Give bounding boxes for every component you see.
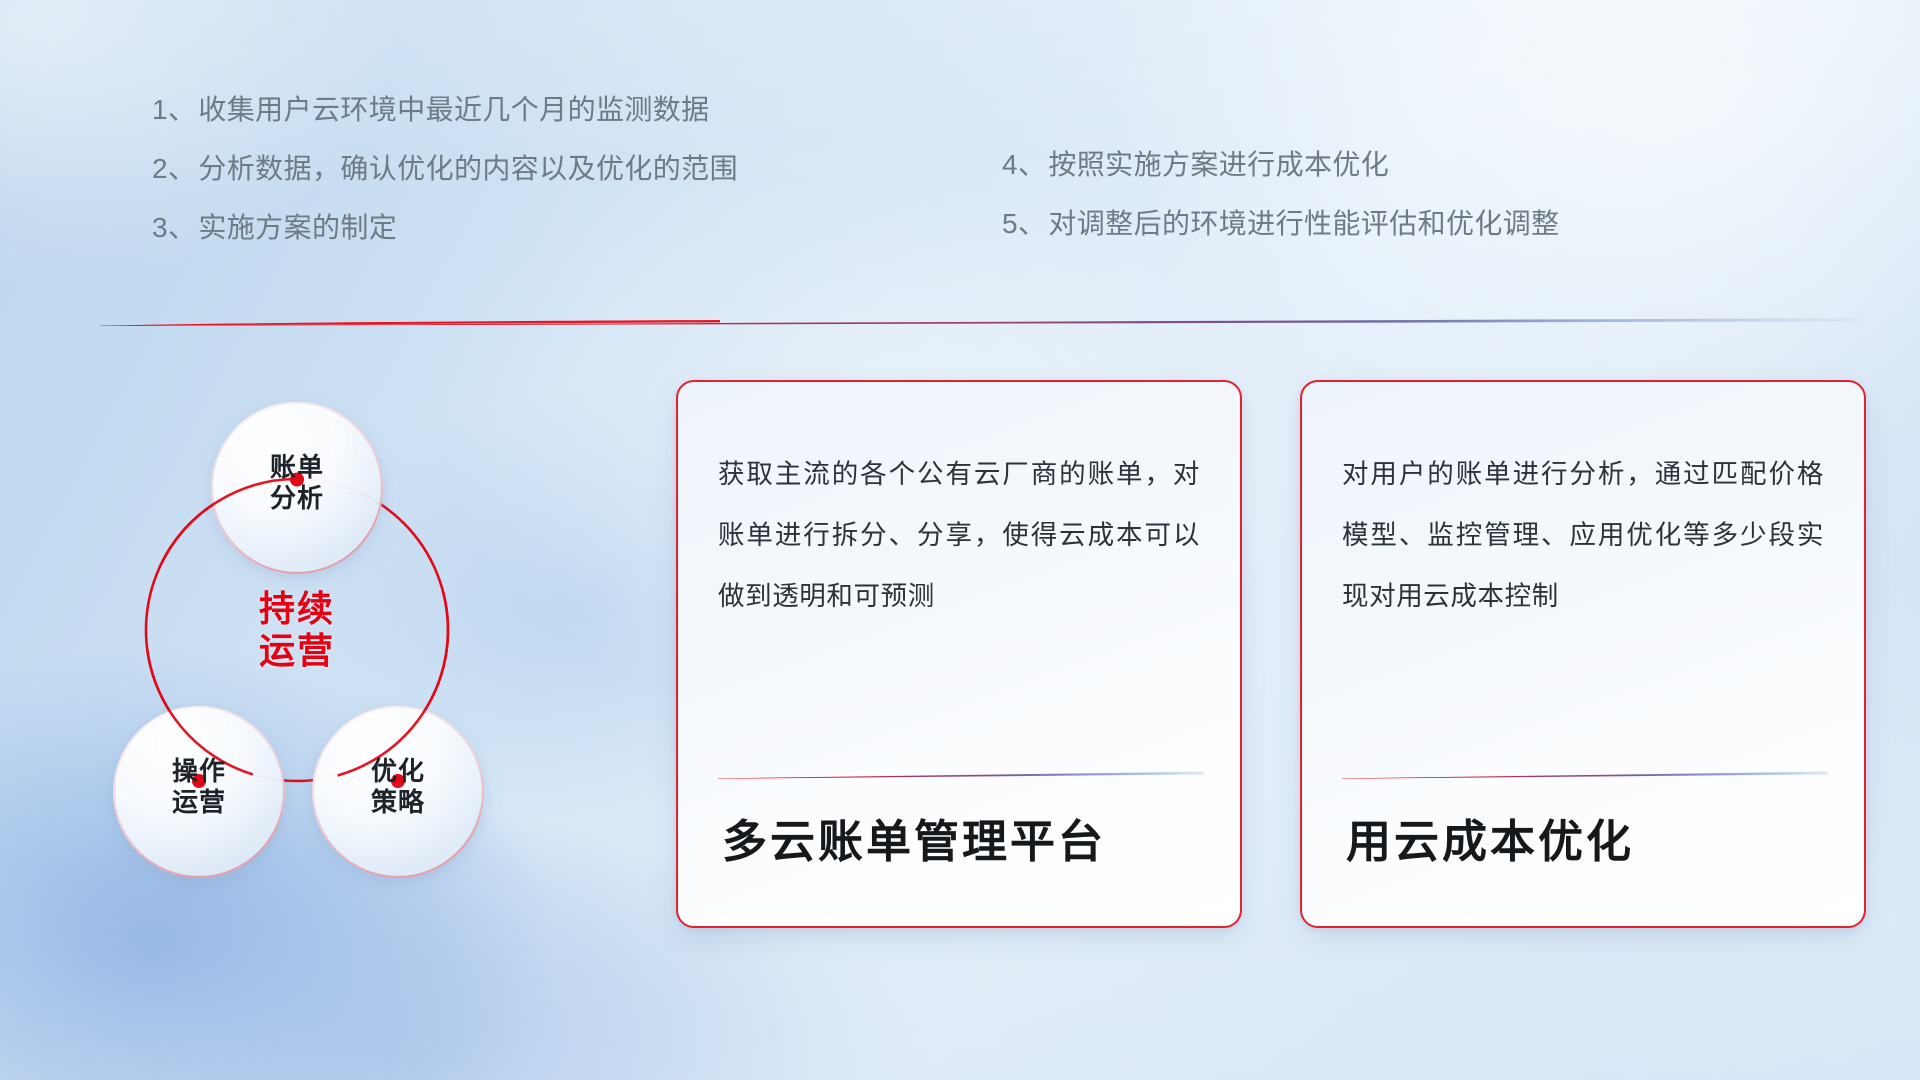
steps-list: 1、 收集用户云环境中最近几个月的监测数据 2、 分析数据，确认优化的内容以及优… (0, 0, 1920, 290)
step-text: 实施方案的制定 (198, 214, 397, 242)
step-number: 5、 (1002, 210, 1046, 238)
venn-diagram: 账单 分析 操作 运营 优化 策略 持续 运营 (95, 340, 655, 960)
feature-cards: 获取主流的各个公有云厂商的账单，对账单进行拆分、分享，使得云成本可以做到透明和可… (676, 380, 1876, 940)
venn-label-line: 优化 (338, 756, 458, 787)
venn-center-label-line: 运营 (222, 630, 372, 672)
venn-label-line: 操作 (139, 756, 259, 787)
venn-label-line: 分析 (237, 483, 357, 514)
step-item-2: 2、 分析数据，确认优化的内容以及优化的范围 (152, 155, 738, 183)
card-multi-cloud-billing-platform[interactable]: 获取主流的各个公有云厂商的账单，对账单进行拆分、分享，使得云成本可以做到透明和可… (676, 380, 1242, 928)
step-text: 分析数据，确认优化的内容以及优化的范围 (198, 155, 738, 183)
card-body-text: 获取主流的各个公有云厂商的账单，对账单进行拆分、分享，使得云成本可以做到透明和可… (718, 444, 1200, 627)
card-title: 用云成本优化 (1342, 775, 1824, 926)
venn-label-operations: 操作 运营 (139, 756, 259, 817)
step-number: 2、 (152, 155, 196, 183)
section-divider (100, 313, 1860, 324)
step-text: 按照实施方案进行成本优化 (1048, 151, 1389, 179)
step-item-4: 4、 按照实施方案进行成本优化 (1002, 151, 1560, 179)
venn-label-line: 账单 (237, 452, 357, 483)
steps-right-column: 4、 按照实施方案进行成本优化 5、 对调整后的环境进行性能评估和优化调整 (1002, 151, 1560, 269)
card-divider (1342, 766, 1828, 775)
card-divider (718, 766, 1204, 775)
venn-label-line: 策略 (338, 787, 458, 818)
card-body-text: 对用户的账单进行分析，通过匹配价格模型、监控管理、应用优化等多少段实现对用云成本… (1342, 444, 1824, 627)
venn-label-line: 运营 (139, 787, 259, 818)
card-cloud-cost-optimization[interactable]: 对用户的账单进行分析，通过匹配价格模型、监控管理、应用优化等多少段实现对用云成本… (1300, 380, 1866, 928)
venn-label-billing-analysis: 账单 分析 (237, 452, 357, 513)
step-number: 1、 (152, 96, 196, 124)
venn-center-label-line: 持续 (222, 588, 372, 630)
venn-center-label: 持续 运营 (222, 588, 372, 672)
venn-label-optimization-strategy: 优化 策略 (338, 756, 458, 817)
step-text: 对调整后的环境进行性能评估和优化调整 (1048, 210, 1559, 238)
step-item-3: 3、 实施方案的制定 (152, 214, 738, 242)
steps-left-column: 1、 收集用户云环境中最近几个月的监测数据 2、 分析数据，确认优化的内容以及优… (152, 96, 738, 273)
step-number: 3、 (152, 214, 196, 242)
step-number: 4、 (1002, 151, 1046, 179)
step-item-1: 1、 收集用户云环境中最近几个月的监测数据 (152, 96, 738, 124)
step-item-5: 5、 对调整后的环境进行性能评估和优化调整 (1002, 210, 1560, 238)
step-text: 收集用户云环境中最近几个月的监测数据 (198, 96, 709, 124)
card-title: 多云账单管理平台 (718, 775, 1200, 926)
